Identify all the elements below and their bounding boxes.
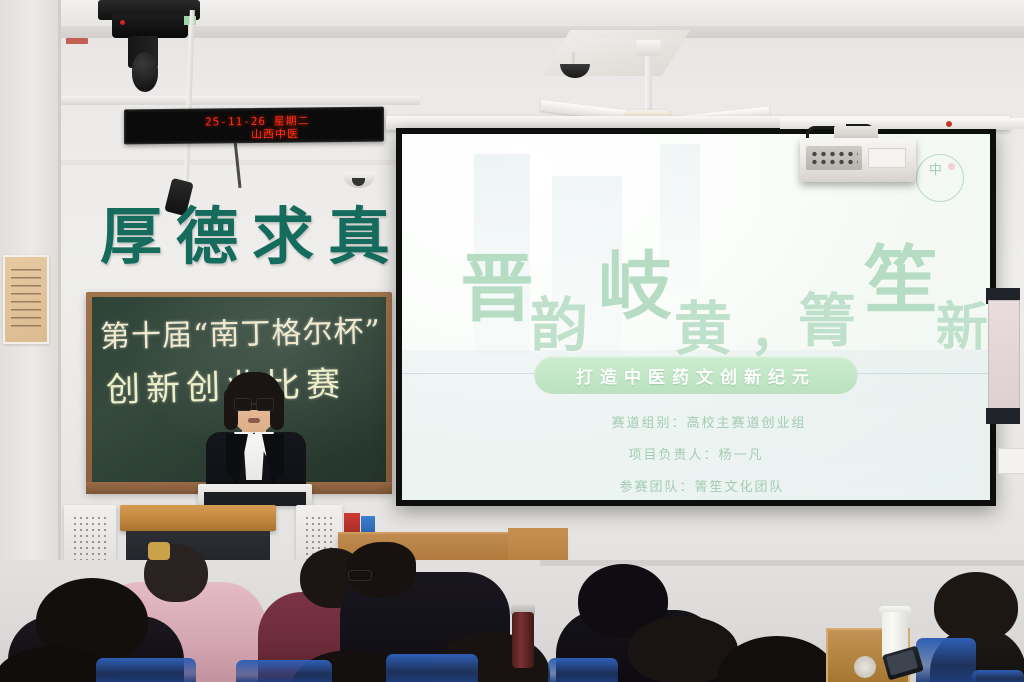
led-display: 25-11-26 星期二 山西中医 [124, 107, 384, 145]
projector-bar-indicator [946, 121, 952, 127]
red-thermos-bottle [512, 612, 534, 668]
pillar-edge [58, 0, 61, 560]
slide-meta-block: 赛道组别：高校主赛道创业组 项目负责人：杨一凡 参赛团队：箐笙文化团队 [402, 412, 990, 500]
logo-mark: 中 [929, 165, 940, 176]
led-panel: 25-11-26 星期二 山西中医 [127, 110, 381, 142]
right-wall-bracket-bottom [986, 408, 1020, 424]
blackboard-line-1: 第十届“南丁格尔杯” [100, 306, 379, 356]
glasses-bridge [251, 403, 257, 405]
title-char-5: ， [750, 308, 800, 358]
title-char-3: 岐 [598, 250, 672, 324]
chair-back[interactable] [96, 658, 196, 682]
title-char-2: 韵 [530, 296, 588, 354]
fan-rod [645, 46, 652, 116]
chair-back[interactable] [236, 660, 332, 682]
slide-meta-track: 赛道组别：高校主赛道创业组 [402, 412, 990, 431]
hair-clip-icon [148, 542, 170, 560]
chair-back[interactable] [972, 670, 1024, 682]
title-char-1: 晋 [460, 252, 534, 326]
logo-dot [948, 163, 955, 170]
slide-subtitle-text: 打造中医药文创新纪元 [576, 363, 816, 388]
presenter-mouth [248, 418, 260, 423]
title-char-6: 箐 [798, 292, 856, 350]
slide-title: 晋 韵 岐 黄 ， 箐 笙 新 章 [402, 192, 990, 332]
projected-slide: 中 晋 韵 岐 黄 ， 箐 笙 新 章 打造中医药文创新纪元 赛道组别：高校主赛… [402, 134, 990, 500]
camera-lens-icon [132, 52, 158, 92]
slide-meta-leader: 项目负责人：杨一凡 [402, 444, 990, 463]
projector-label [868, 148, 906, 168]
lectern-monitor-screen [204, 492, 306, 506]
chair-back[interactable] [386, 654, 478, 682]
poster-text-lines [11, 269, 41, 332]
chair-back[interactable] [548, 658, 618, 682]
chair-back[interactable] [916, 638, 976, 682]
title-char-7: 笙 [864, 244, 938, 318]
audience-member-8-head [934, 572, 1018, 642]
slide-meta-team: 参赛团队：箐笙文化团队 [402, 476, 990, 495]
title-char-4: 黄 [674, 300, 732, 358]
motto-char-2: 德 [176, 206, 238, 268]
camera-body [112, 14, 188, 38]
display-disc [854, 656, 876, 678]
glasses-icon [348, 570, 372, 581]
camera-record-indicator [120, 20, 125, 25]
right-wall-sign [998, 448, 1024, 474]
right-wall-fixture [988, 300, 1020, 412]
wall-rail-upper [0, 96, 420, 105]
projector-ports-icon [810, 150, 858, 166]
title-char-8: 新 [936, 302, 988, 354]
motto-char-3: 求 [252, 206, 314, 268]
projection-screen-frame: 中 晋 韵 岐 黄 ， 箐 笙 新 章 打造中医药文创新纪元 赛道组别：高校主赛… [396, 128, 996, 506]
wall-poster [3, 255, 49, 344]
motto-char-4: 真 [328, 206, 390, 268]
glasses-icon [234, 398, 274, 409]
presenter [196, 372, 316, 502]
classroom-presentation-scene: 25-11-26 星期二 山西中医 厚 德 求 真 第十届“南丁格尔杯” 创新创… [0, 0, 1024, 682]
lectern-emblem [66, 38, 88, 44]
fan-ceiling-mount [636, 40, 661, 56]
wall-motto: 厚 德 求 真 [100, 196, 390, 278]
motto-char-1: 厚 [100, 206, 162, 268]
led-line-2: 山西中医 [251, 126, 299, 142]
slide-subtitle-badge: 打造中医药文创新纪元 [534, 356, 858, 394]
